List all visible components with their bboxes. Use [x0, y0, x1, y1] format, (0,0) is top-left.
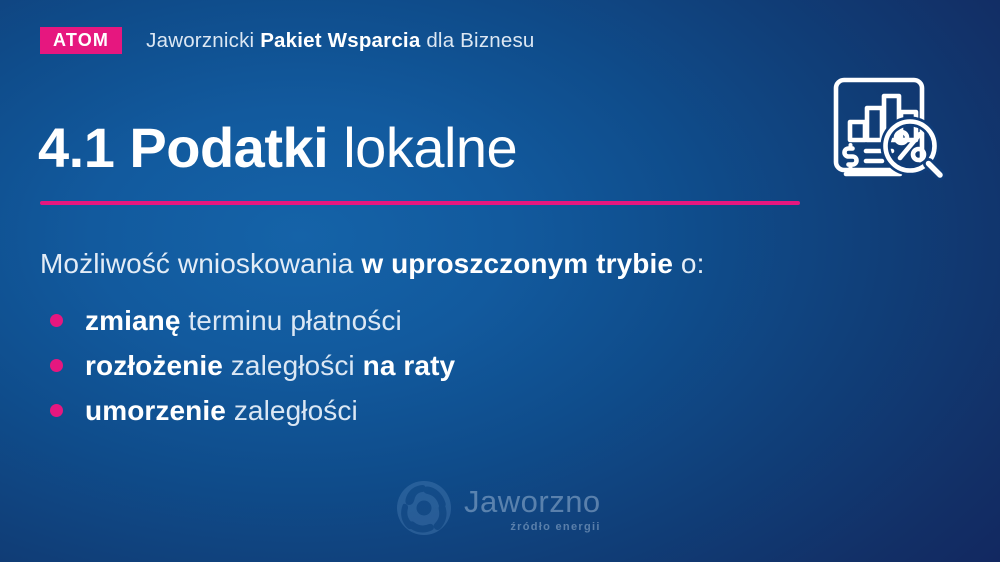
- slide-canvas: ATOM Jaworznicki Pakiet Wsparcia dla Biz…: [0, 0, 1000, 562]
- list-item: zmianę terminu płatności: [50, 298, 455, 343]
- list-item-bold-1: umorzenie: [85, 395, 226, 426]
- lead-post: o:: [673, 248, 704, 279]
- bullet-list: zmianę terminu płatności rozłożenie zale…: [50, 298, 455, 433]
- document-chart-magnifier-percent-icon: [822, 66, 946, 184]
- header-title: Jaworznicki Pakiet Wsparcia dla Biznesu: [146, 29, 534, 53]
- list-item-bold-1: zmianę: [85, 305, 181, 336]
- atom-badge: ATOM: [40, 27, 122, 54]
- list-item-normal-1: zaległości: [226, 395, 358, 426]
- list-item-bold-2: na raty: [363, 350, 456, 381]
- bullet-dot-icon: [50, 359, 63, 372]
- list-item-normal-1: zaległości: [223, 350, 363, 381]
- bullet-dot-icon: [50, 404, 63, 417]
- jaworzno-logo-tagline: źródło energii: [464, 521, 601, 533]
- list-item-text: umorzenie zaległości: [85, 395, 358, 427]
- jaworzno-brand-logo: Jaworzno źródło energii: [396, 480, 601, 536]
- header-title-bold: Pakiet Wsparcia: [260, 29, 420, 52]
- slide-header: ATOM Jaworznicki Pakiet Wsparcia dla Biz…: [40, 27, 535, 54]
- list-item-text: rozłożenie zaległości na raty: [85, 350, 455, 382]
- list-item-normal-1: terminu płatności: [181, 305, 402, 336]
- list-item: umorzenie zaległości: [50, 388, 455, 433]
- lead-pre: Możliwość wnioskowania: [40, 248, 361, 279]
- list-item-text: zmianę terminu płatności: [85, 305, 402, 337]
- header-title-post: dla Biznesu: [420, 29, 534, 52]
- title-divider-rule: [40, 201, 800, 205]
- jaworzno-logo-wordmark: Jaworzno: [464, 486, 601, 517]
- jaworzno-logo-text: Jaworzno źródło energii: [464, 484, 601, 533]
- page-title-light: lokalne: [328, 116, 517, 179]
- jaworzno-logo-mark: [396, 480, 452, 536]
- bullet-dot-icon: [50, 314, 63, 327]
- page-title-number-bold: 4.1 Podatki: [38, 116, 328, 179]
- page-title: 4.1 Podatki lokalne: [38, 119, 517, 178]
- list-item-bold-1: rozłożenie: [85, 350, 223, 381]
- lead-paragraph: Możliwość wnioskowania w uproszczonym tr…: [40, 248, 704, 280]
- lead-bold: w uproszczonym trybie: [361, 248, 673, 279]
- list-item: rozłożenie zaległości na raty: [50, 343, 455, 388]
- header-title-pre: Jaworznicki: [146, 29, 260, 52]
